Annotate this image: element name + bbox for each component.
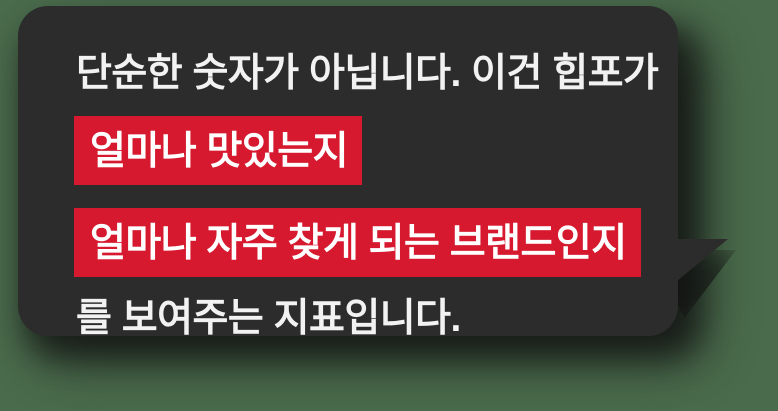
speech-bubble-text-block: 단순한 숫자가 아닙니다. 이건 힙포가 얼마나 맛있는지 얼마나 자주 찾게 … [74, 54, 648, 338]
speech-bubble-line-1: 단순한 숫자가 아닙니다. 이건 힙포가 [76, 54, 648, 93]
slide-canvas: 단순한 숫자가 아닙니다. 이건 힙포가 얼마나 맛있는지 얼마나 자주 찾게 … [0, 0, 778, 411]
speech-bubble-highlight-row-1: 얼마나 맛있는지 [74, 116, 648, 185]
speech-bubble-line-3-highlight: 얼마나 자주 찾게 되는 브랜드인지 [74, 208, 641, 277]
speech-bubble: 단순한 숫자가 아닙니다. 이건 힙포가 얼마나 맛있는지 얼마나 자주 찾게 … [18, 6, 678, 336]
speech-bubble-line-2-highlight: 얼마나 맛있는지 [74, 116, 362, 185]
speech-bubble-highlight-row-2: 얼마나 자주 찾게 되는 브랜드인지 [74, 208, 648, 277]
speech-bubble-line-4: 를 보여주는 지표입니다. [76, 299, 648, 338]
